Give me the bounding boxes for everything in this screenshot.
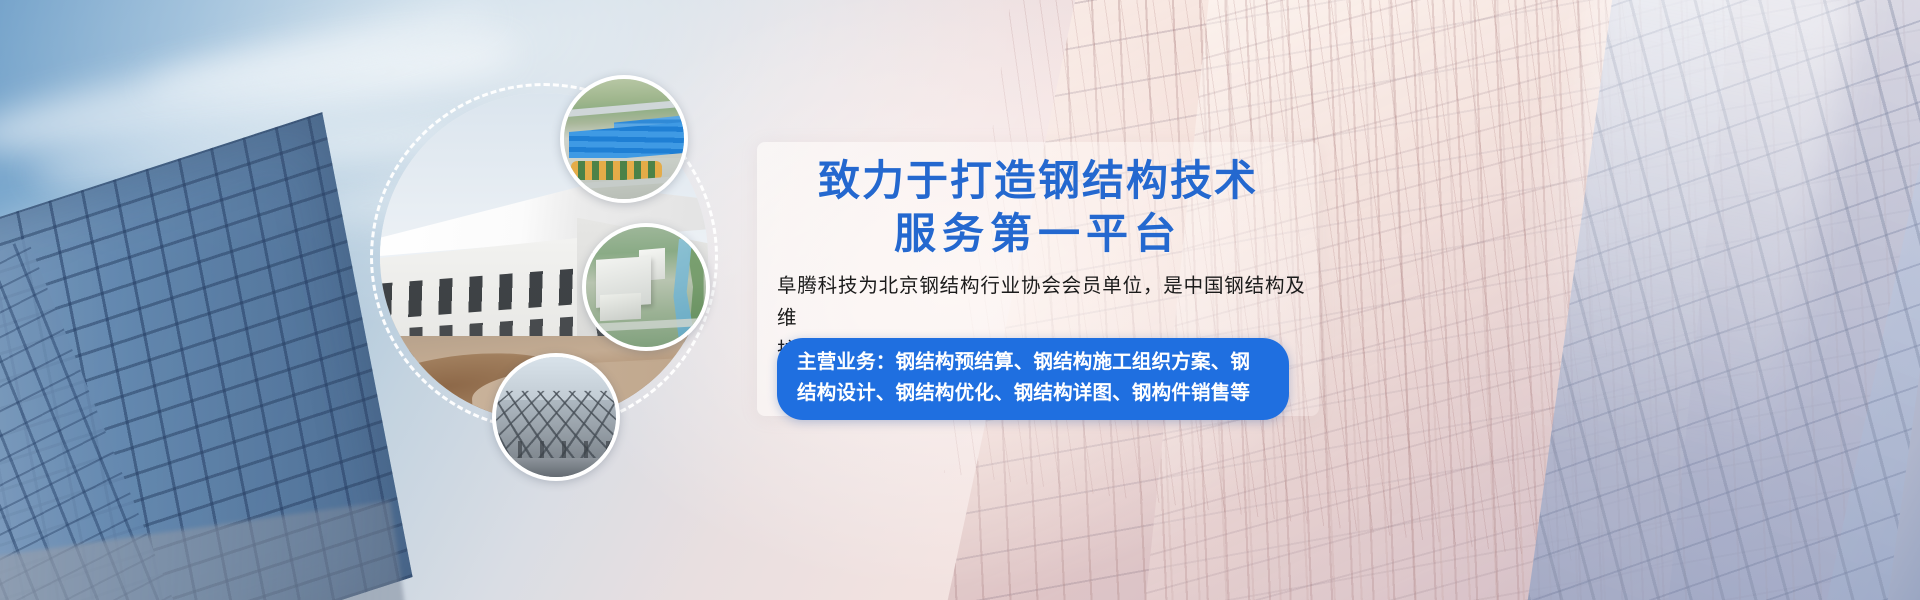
aerial-blue-roof bbox=[569, 122, 684, 163]
photo-circle-aerial-campus bbox=[582, 223, 710, 351]
badge-line-2: 结构设计、钢结构优化、钢结构详图、钢构件销售等 bbox=[797, 378, 1269, 409]
photo-circle-steel-truss bbox=[492, 353, 620, 481]
badge-line-1: 主营业务：钢结构预结算、钢结构施工组织方案、钢 bbox=[797, 347, 1269, 378]
hero-banner: 致力于打造钢结构技术 服务第一平台 阜腾科技为北京钢结构行业协会会员单位，是中国… bbox=[0, 0, 1920, 600]
banner-headline: 致力于打造钢结构技术 服务第一平台 bbox=[757, 156, 1319, 262]
main-business-badge[interactable]: 主营业务：钢结构预结算、钢结构施工组织方案、钢 结构设计、钢结构优化、钢结构详图… bbox=[777, 338, 1289, 420]
truss-floor bbox=[496, 458, 616, 477]
description-line-1: 阜腾科技为北京钢结构行业协会会员单位，是中国钢结构及维 bbox=[777, 270, 1305, 334]
aerial-road-top bbox=[564, 100, 684, 118]
photo-circle-aerial-plant bbox=[560, 75, 688, 203]
aerial-tree-row bbox=[571, 161, 662, 180]
campus-building-annex bbox=[600, 293, 641, 322]
steel-truss-photo bbox=[496, 357, 616, 477]
aerial-plant-photo bbox=[564, 79, 684, 199]
photo-circle-cluster bbox=[330, 55, 750, 485]
aerial-campus-photo bbox=[586, 227, 706, 347]
headline-line-2: 服务第一平台 bbox=[757, 209, 1319, 262]
headline-line-1: 致力于打造钢结构技术 bbox=[757, 156, 1319, 209]
